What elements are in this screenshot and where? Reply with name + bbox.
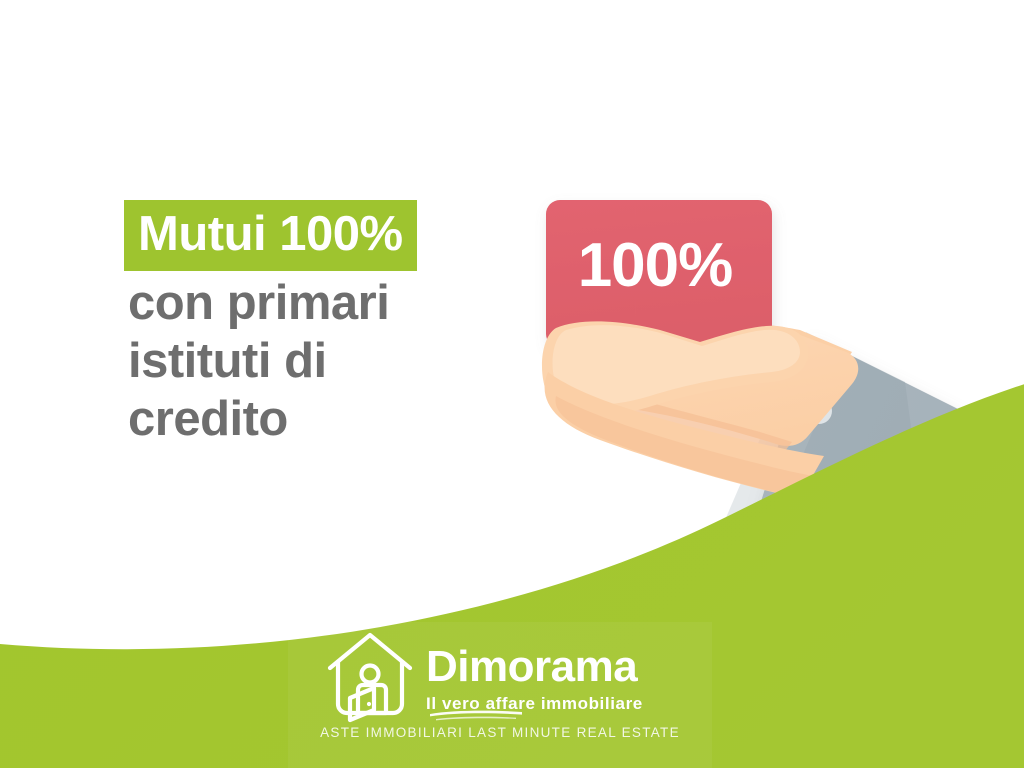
headline-line-3: credito bbox=[124, 391, 544, 449]
promo-banner: Mutui 100% con primari istituti di credi… bbox=[0, 0, 1024, 768]
logo-name: Dimorama bbox=[426, 645, 643, 689]
headline-highlight: Mutui 100% bbox=[124, 200, 417, 271]
headline-block: Mutui 100% con primari istituti di credi… bbox=[124, 200, 544, 448]
logo-wordmark-group: Dimorama Il vero affare immobiliare bbox=[426, 641, 643, 712]
percent-card-value: 100% bbox=[578, 235, 733, 297]
headline-body: con primari istituti di credito bbox=[124, 275, 544, 448]
headline-line-1: con primari bbox=[124, 275, 544, 333]
logo-subline: ASTE IMMOBILIARI LAST MINUTE REAL ESTATE bbox=[288, 726, 712, 740]
percent-card: 100% bbox=[546, 200, 772, 348]
headline-line-2: istituti di bbox=[124, 333, 544, 391]
headline-highlight-wrap: Mutui 100% bbox=[124, 200, 544, 271]
house-with-door-icon bbox=[324, 628, 416, 724]
flourish-divider-icon bbox=[428, 708, 524, 722]
brand-logo[interactable]: Dimorama Il vero affare immobiliare ASTE… bbox=[288, 620, 712, 768]
